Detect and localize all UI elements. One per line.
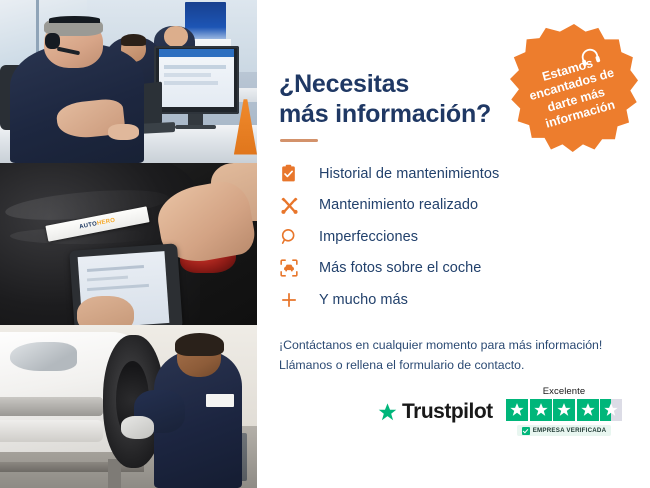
contact-line-1: ¡Contáctanos en cualquier momento para m… <box>279 336 639 356</box>
monitor-screen-line <box>164 73 210 77</box>
agent-hand <box>108 124 139 140</box>
car-focus-frame-icon <box>279 257 305 279</box>
crossed-tools-icon <box>279 194 305 216</box>
feature-label: Más fotos sobre el coche <box>319 260 481 276</box>
headline-line-2: más información? <box>279 99 529 130</box>
mechanic-uniform-badge <box>206 394 234 407</box>
feature-label: Y mucho más <box>319 292 408 308</box>
plus-icon <box>279 289 305 311</box>
ruler-brand-part1: AUTO <box>79 222 98 231</box>
accent-divider <box>280 139 318 142</box>
star-glyph <box>580 402 596 418</box>
star-glyph <box>509 402 525 418</box>
feature-label: Imperfecciones <box>319 229 418 245</box>
star-half <box>600 399 622 421</box>
feature-list: Historial de mantenimientos M <box>279 158 619 316</box>
feature-item: Más fotos sobre el coche <box>279 253 619 285</box>
star-filled <box>577 399 599 421</box>
mechanic-hair <box>175 333 224 356</box>
verified-company-badge: EMPRESA VERIFICADA <box>517 425 612 436</box>
trustpilot-star-icon <box>377 402 398 423</box>
car-grille <box>0 397 103 417</box>
headset-band <box>49 16 100 23</box>
agent-hair-background <box>121 34 147 45</box>
star-glyph <box>533 402 549 418</box>
magnifier-icon <box>279 226 305 248</box>
trustpilot-wordmark: Trustpilot <box>402 400 493 424</box>
mechanic-glove <box>121 416 154 439</box>
feature-item: Mantenimiento realizado <box>279 190 619 222</box>
photo-strip: AUTOHERO <box>0 0 257 488</box>
monitor-screen-line <box>164 65 226 69</box>
contact-line-2: Llámanos o rellena el formulario de cont… <box>279 356 639 376</box>
feature-item: Y mucho más <box>279 284 619 316</box>
call-center-agents-photo <box>0 0 257 163</box>
monitor-screen <box>159 49 234 108</box>
page-title: ¿Necesitas más información? <box>279 69 529 130</box>
trustpilot-stars <box>499 399 629 421</box>
monitor-screen-header <box>159 49 234 57</box>
star-glyph <box>603 402 619 418</box>
contact-text: ¡Contáctanos en cualquier momento para m… <box>279 336 639 376</box>
feature-label: Mantenimiento realizado <box>319 197 478 213</box>
clipboard-check-icon <box>279 163 305 185</box>
check-icon <box>522 427 530 435</box>
trustpilot-rating[interactable]: Trustpilot Excelente <box>377 386 632 446</box>
car-bumper <box>0 420 103 443</box>
vehicle-inspection-photo: AUTOHERO <box>0 163 257 326</box>
trustpilot-rating-word: Excelente <box>499 386 629 397</box>
agent-head-far <box>164 26 187 47</box>
feature-item: Historial de mantenimientos <box>279 158 619 190</box>
monitor-screen-line <box>164 81 218 85</box>
mechanic-wheel-photo <box>0 325 257 488</box>
monitor-base <box>175 125 216 129</box>
content-panel: ¿Necesitas más información? Estamos enca… <box>257 0 650 488</box>
promo-badge: Estamos encantados de darte más informac… <box>510 24 638 152</box>
star-filled <box>530 399 552 421</box>
inspector-hand-holding-tablet <box>77 296 134 325</box>
headline-line-1: ¿Necesitas <box>279 70 409 98</box>
car-headlight <box>10 342 77 371</box>
info-banner: AUTOHERO <box>0 0 650 488</box>
star-glyph <box>556 402 572 418</box>
star-filled <box>506 399 528 421</box>
verified-company-label: EMPRESA VERIFICADA <box>533 427 607 434</box>
trustpilot-logo[interactable]: Trustpilot <box>377 400 493 424</box>
feature-label: Historial de mantenimientos <box>319 166 499 182</box>
ruler-brand-part2: HERO <box>97 218 116 227</box>
star-filled <box>553 399 575 421</box>
feature-item: Imperfecciones <box>279 221 619 253</box>
trustpilot-score-block: Excelente <box>499 386 629 440</box>
car-lift-post <box>108 459 121 488</box>
